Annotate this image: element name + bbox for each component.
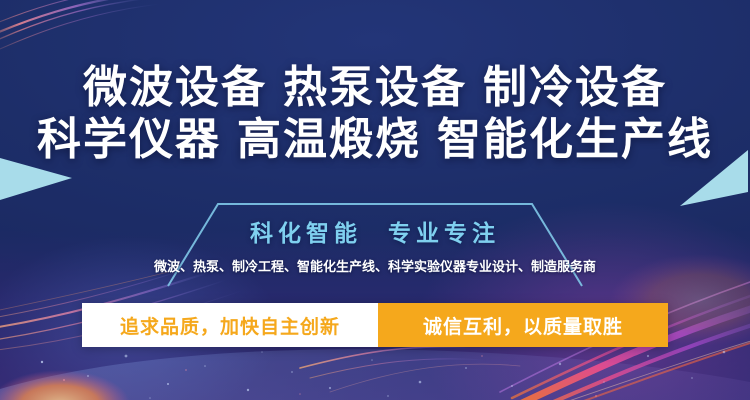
headline-line2-part2: 高温煅烧 [237,115,421,164]
headline-line1-part3: 制冷设备 [483,63,667,112]
slogan-left: 科化智能 [250,220,362,246]
headline-line-1: 微波设备热泵设备制冷设备 [0,62,750,114]
slogan-block: 科化智能专业专注 微波、热泵、制冷工程、智能化生产线、科学实验仪器专业设计、制造… [0,196,750,288]
headline-line2-part1: 科学仪器 [37,115,221,164]
ribbon-left-panel: 追求品质，加快自主创新 [82,303,378,347]
headline-line2-part3: 智能化生产线 [437,115,713,164]
headline-line1-part1: 微波设备 [83,63,267,112]
headline-block: 微波设备热泵设备制冷设备 科学仪器高温煅烧智能化生产线 [0,62,750,166]
ribbon-right-panel: 诚信互利，以质量取胜 [378,303,668,347]
bottom-ribbon: 追求品质，加快自主创新 诚信互利，以质量取胜 [82,303,668,347]
slogan-main: 科化智能专业专注 [0,214,750,248]
headline-line1-part2: 热泵设备 [283,63,467,112]
headline-line-2: 科学仪器高温煅烧智能化生产线 [0,114,750,166]
slogan-subline: 微波、热泵、制冷工程、智能化生产线、科学实验仪器专业设计、制造服务商 [0,256,750,275]
slogan-right: 专业专注 [388,220,500,246]
ribbon-left-text: 追求品质，加快自主创新 [120,312,340,339]
banner-canvas: 微波设备热泵设备制冷设备 科学仪器高温煅烧智能化生产线 科化智能专业专注 微波、… [0,0,750,400]
ribbon-right-text: 诚信互利，以质量取胜 [423,312,623,339]
